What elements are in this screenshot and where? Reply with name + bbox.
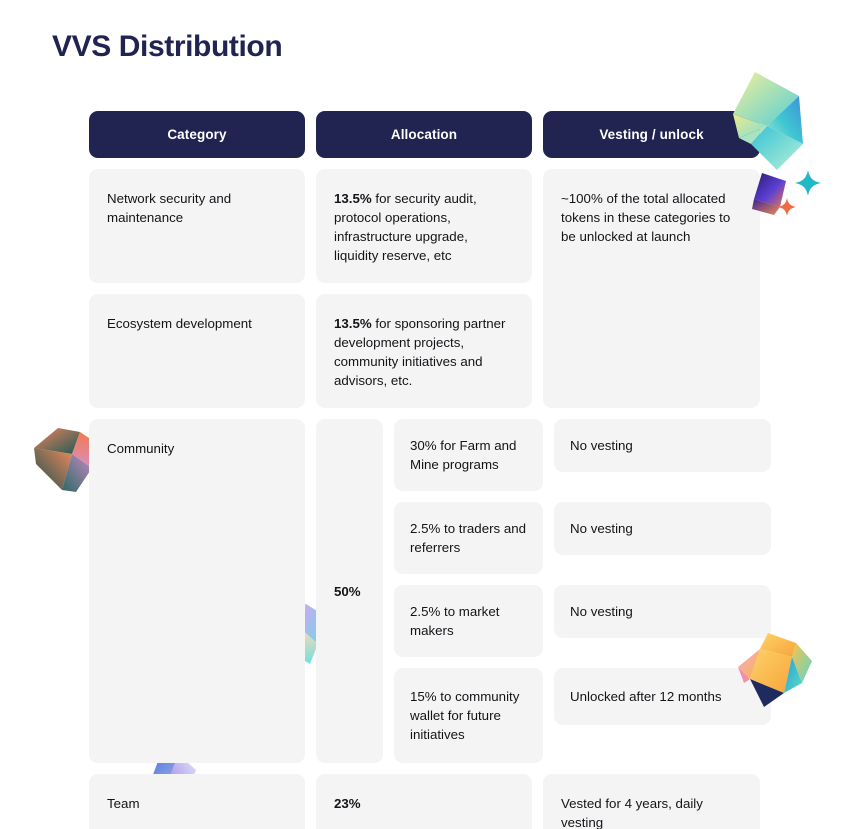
cell-vesting: No vesting (554, 585, 771, 657)
table-row: 30% for Farm and Mine programs No vestin… (394, 419, 771, 491)
cell-allocation-text: 30% for Farm and Mine programs (394, 419, 543, 491)
cell-allocation-text: 2.5% to traders and referrers (394, 502, 543, 574)
cell-category: Team (89, 774, 305, 829)
cell-allocation: 15% to community wallet for future initi… (394, 668, 543, 763)
cell-vesting: Vested for 4 years, daily vesting (543, 774, 760, 829)
allocation-percent: 13.5% (334, 316, 372, 331)
cell-allocation-text: 15% to community wallet for future initi… (394, 668, 543, 763)
column-header-category: Category (89, 111, 305, 158)
cell-allocation: 13.5% for security audit, protocol opera… (316, 169, 532, 283)
table-row: Ecosystem development 13.5% for sponsori… (89, 294, 532, 408)
cell-vesting-text: No vesting (554, 585, 771, 638)
sparkle-teal-icon (795, 170, 821, 196)
column-header-vesting: Vesting / unlock (543, 111, 760, 158)
cell-vesting-text: No vesting (554, 419, 771, 472)
sparkle-orange-icon (778, 198, 796, 216)
cell-allocation: 23% (316, 774, 532, 829)
allocation-percent: 13.5% (334, 191, 372, 206)
table-row: 2.5% to traders and referrers No vesting (394, 502, 771, 574)
table-band-community: Community 50% 30% for Farm and Mine prog… (89, 419, 760, 763)
cell-allocation: 2.5% to traders and referrers (394, 502, 543, 574)
table-header-row: Category Allocation Vesting / unlock (89, 111, 760, 158)
cell-vesting: No vesting (554, 502, 771, 574)
cell-allocation-text: 2.5% to market makers (394, 585, 543, 657)
distribution-infographic: VVS Distribution Category Allocation Ves… (0, 0, 850, 829)
cell-category: Community (89, 419, 305, 763)
cell-allocation: 2.5% to market makers (394, 585, 543, 657)
table-row: 2.5% to market makers No vesting (394, 585, 771, 657)
table-band-launch: Network security and maintenance 13.5% f… (89, 169, 760, 408)
cell-category: Ecosystem development (89, 294, 305, 408)
cell-vesting-merged: ~100% of the total allocated tokens in t… (543, 169, 760, 408)
page-title: VVS Distribution (52, 27, 282, 67)
table-row: 15% to community wallet for future initi… (394, 668, 771, 763)
distribution-table: Category Allocation Vesting / unlock Net… (89, 111, 760, 829)
cell-category: Network security and maintenance (89, 169, 305, 283)
table-row: Team 23% Vested for 4 years, daily vesti… (89, 774, 760, 829)
cell-allocation-total: 50% (316, 419, 383, 763)
allocation-percent: 23% (334, 796, 361, 811)
cell-vesting-text: No vesting (554, 502, 771, 555)
column-header-allocation: Allocation (316, 111, 532, 158)
cell-vesting-text: Unlocked after 12 months (554, 668, 771, 725)
cell-vesting: Unlocked after 12 months (554, 668, 771, 763)
cell-allocation: 13.5% for sponsoring partner development… (316, 294, 532, 408)
cell-allocation: 30% for Farm and Mine programs (394, 419, 543, 491)
table-row: Network security and maintenance 13.5% f… (89, 169, 532, 283)
community-subrows: 30% for Farm and Mine programs No vestin… (394, 419, 771, 763)
cell-vesting: No vesting (554, 419, 771, 491)
